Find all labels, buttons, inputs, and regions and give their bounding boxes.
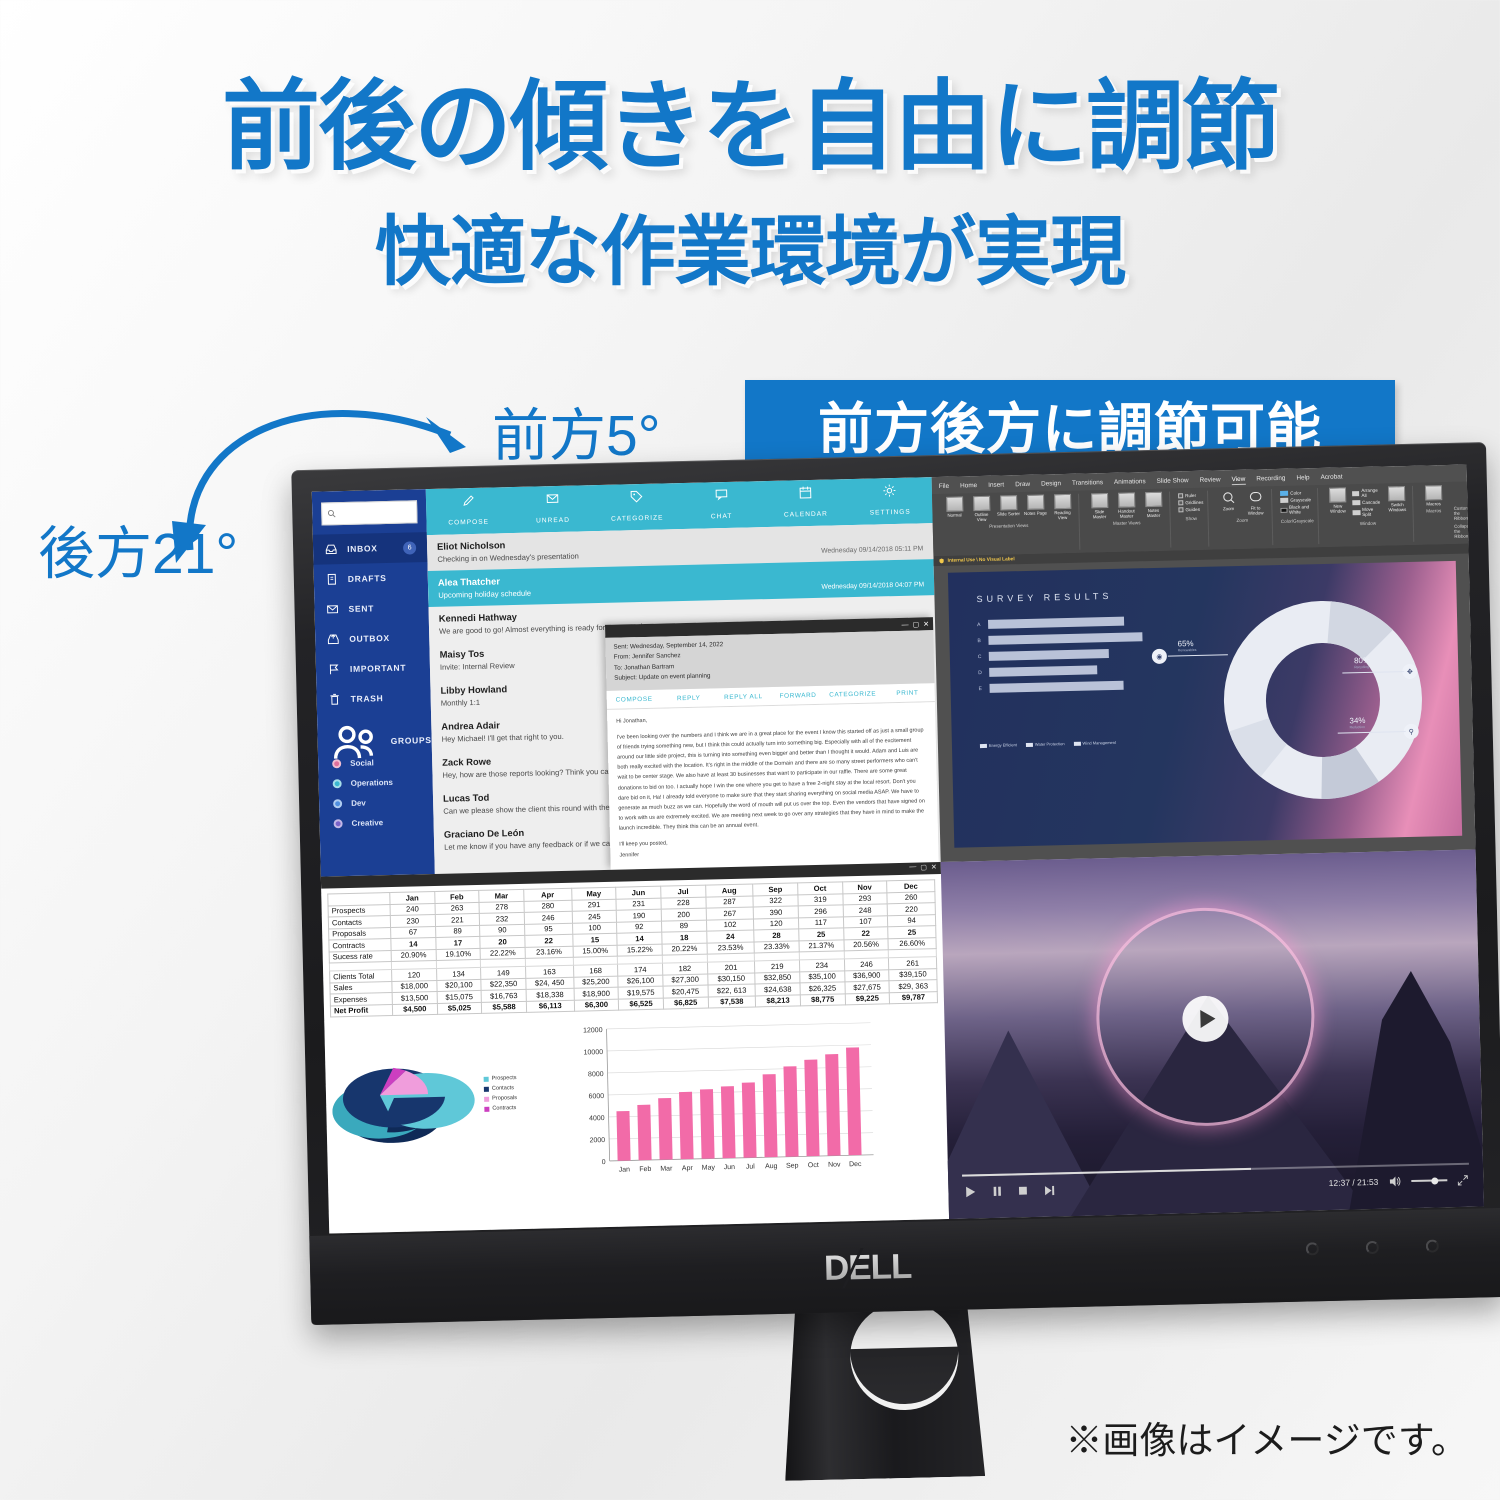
close-icon[interactable]: ✕ (931, 863, 937, 871)
toolbar-calendar[interactable]: CALENDAR (763, 484, 848, 527)
group-dot (333, 819, 342, 828)
btn-move-split[interactable]: Move Split (1352, 507, 1383, 518)
svg-text:Jan: Jan (619, 1166, 631, 1173)
sidebar-label: INBOX (347, 543, 378, 554)
bar-track (988, 617, 1124, 629)
email-sidebar: INBOX 6 DRAFTS SENT O (312, 489, 435, 877)
page-subtitle: 快適な作業環境が実現 (0, 190, 1500, 300)
bar-track (989, 665, 1097, 677)
link-collapse-ribbon[interactable]: Collapse the Ribbon (1454, 523, 1475, 538)
btn-label: Handout Master (1114, 508, 1138, 519)
window-controls[interactable]: — ▢ ✕ (909, 863, 937, 872)
gear-icon (882, 483, 897, 498)
color-swatch-icon (1280, 491, 1288, 496)
callout-value: 80%Recycling (1354, 656, 1370, 669)
group-dot (333, 799, 342, 808)
cascade-icon (1352, 500, 1360, 505)
sensitivity-label: Internal Use \ No Visual Label (948, 557, 1015, 564)
svg-text:12000: 12000 (583, 1027, 603, 1034)
inbox-icon (324, 542, 338, 556)
btn-label: Notes Page (1024, 510, 1047, 516)
legend-swatch (1073, 741, 1080, 745)
tag-icon (629, 489, 644, 504)
legend-item: Proposals (484, 1095, 517, 1102)
legend-swatch (484, 1096, 489, 1101)
maximize-icon[interactable]: ▢ (912, 619, 919, 631)
notes-page-icon (1027, 495, 1044, 510)
email-reading-window: — ▢ ✕ Sent: Wednesday, September 14, 202… (605, 617, 939, 870)
move-split-icon (1352, 510, 1360, 515)
ribbon-group-presentation-views: Normal Outline View Slide Sorter Notes P… (938, 494, 1080, 553)
sidebar-item-sent[interactable]: SENT (314, 592, 429, 625)
cell[interactable]: $4,500 (392, 1003, 437, 1016)
toolbar-label: CALENDAR (784, 511, 828, 519)
tab-review[interactable]: Review (1200, 476, 1221, 485)
cell[interactable]: $5,025 (437, 1002, 482, 1015)
legend-item: Contracts (484, 1105, 517, 1112)
callout-caption: Reduction (1350, 725, 1366, 729)
svg-text:Dec: Dec (849, 1161, 862, 1168)
toolbar-categorize[interactable]: CATEGORIZE (594, 488, 679, 531)
ribbon: Normal Outline View Slide Sorter Notes P… (932, 482, 1468, 557)
sidebar-label: DRAFTS (348, 573, 387, 584)
fit-window-icon (1247, 489, 1264, 504)
btn-label: Cascade (1362, 500, 1380, 505)
search-icon (327, 509, 336, 518)
slide-bar-row: A (977, 616, 1157, 629)
bar-label: B (977, 637, 984, 643)
group-label: Operations (351, 777, 393, 787)
osd-button-2[interactable] (1366, 1241, 1379, 1254)
checkbox-label: Guides (1185, 507, 1200, 512)
tab-compose[interactable]: COMPOSE (607, 689, 662, 708)
tab-transitions[interactable]: Transitions (1072, 479, 1103, 489)
bar-label: D (978, 669, 985, 675)
checkbox-icon (1178, 500, 1183, 505)
ribbon-group-show: Ruler Gridlines Guides Show (1174, 491, 1209, 548)
callout-value: 65%Renewables (1177, 639, 1196, 652)
legend-swatch (484, 1076, 489, 1081)
legend-item: Water Protection (1026, 741, 1065, 747)
dell-logo: DELL (824, 1246, 912, 1288)
pencil-icon (461, 493, 476, 508)
tab-reply-all[interactable]: REPLY ALL (716, 687, 771, 706)
checkbox-icon (1178, 507, 1183, 512)
btn-grayscale[interactable]: Grayscale (1280, 497, 1313, 503)
link-customize-ribbon[interactable]: Customize the Ribbon... (1454, 505, 1475, 520)
svg-text:Jun: Jun (724, 1164, 736, 1171)
arrange-all-icon (1352, 491, 1360, 496)
btn-new-window[interactable]: New Window (1326, 487, 1349, 514)
tab-home[interactable]: Home (960, 482, 977, 491)
pause-icon[interactable] (990, 1184, 1003, 1199)
bar-track (989, 649, 1109, 661)
btn-fit-to-window[interactable]: Fit to Window (1243, 489, 1268, 516)
svg-text:May: May (702, 1164, 716, 1171)
grayscale-swatch-icon (1280, 498, 1288, 503)
svg-text:6000: 6000 (588, 1093, 604, 1100)
data-table-top[interactable]: Jan Feb Mar Apr May Jun Jul Aug Sep Oct … (327, 879, 938, 1017)
legend-label: Prospects (492, 1075, 517, 1082)
minimize-icon[interactable]: — (901, 620, 908, 632)
outbox-icon (326, 632, 340, 646)
toolbar-label: UNREAD (536, 517, 570, 525)
bar-label: A (977, 621, 984, 627)
tab-animations[interactable]: Animations (1114, 478, 1146, 488)
callout-caption: Recycling (1354, 665, 1370, 669)
minimize-icon[interactable]: — (909, 864, 916, 872)
ribbon-group-master-views: Slide Master Handout Master Notes Master… (1083, 492, 1171, 550)
bar-chart[interactable]: 12000100008000 6000400020000 (566, 1009, 942, 1184)
tab-categorize[interactable]: CATEGORIZE (825, 684, 880, 703)
promo-headline-block: 前後の傾きを自由に調節 快適な作業環境が実現 (0, 72, 1500, 300)
email-greeting: Hi Jonathan, (616, 709, 926, 726)
next-icon[interactable] (1042, 1183, 1055, 1197)
monitor-screen: INBOX 6 DRAFTS SENT O (312, 465, 1484, 1234)
new-window-icon (1329, 487, 1346, 502)
play-icon[interactable] (962, 1184, 977, 1199)
btn-label: Switch Windows (1386, 502, 1409, 513)
svg-text:8000: 8000 (588, 1071, 604, 1078)
window-controls[interactable]: — ▢ ✕ (901, 619, 929, 631)
cell[interactable]: $9,787 (889, 991, 937, 1004)
group-dot (333, 779, 342, 788)
btn-handout-master[interactable]: Handout Master (1114, 492, 1139, 519)
bar-track (989, 681, 1123, 693)
slide-bar-row: C (978, 648, 1158, 661)
email-body-text: I've been looking over the numbers and I… (617, 725, 929, 834)
callout-number: 65% (1177, 639, 1193, 648)
image-disclaimer: ※画像はイメージです。 (1065, 1410, 1468, 1464)
tab-help[interactable]: Help (1296, 474, 1309, 483)
donut-chart (1221, 598, 1426, 803)
btn-cascade[interactable]: Cascade (1352, 500, 1383, 506)
cell[interactable]: $8,775 (800, 993, 845, 1006)
macros-icon (1425, 485, 1442, 500)
ribbon-group-window: New Window Arrange All Cascade Move Spli… (1322, 486, 1414, 544)
reading-view-icon (1054, 494, 1071, 509)
group-label: Macros (1426, 508, 1441, 513)
btn-reading-view[interactable]: Reading View (1050, 494, 1075, 521)
svg-text:Oct: Oct (808, 1162, 819, 1169)
group-label: Window (1360, 521, 1376, 526)
btn-label: New Window (1326, 503, 1349, 514)
normal-view-icon (946, 496, 963, 511)
btn-label: Notes Master (1141, 508, 1165, 519)
osd-button-3[interactable] (1426, 1239, 1439, 1252)
callout-line (1168, 654, 1228, 656)
slide-sorter-icon (1000, 495, 1017, 510)
bar-label: C (978, 653, 985, 659)
tab-recording[interactable]: Recording (1256, 475, 1285, 485)
sidebar-item-outbox[interactable]: OUTBOX (315, 622, 430, 655)
legend-label: Energy Efficient (989, 742, 1017, 748)
svg-text:Nov: Nov (828, 1161, 841, 1168)
group-label: Creative (351, 818, 383, 828)
handout-master-icon (1118, 492, 1135, 507)
btn-macros[interactable]: Macros (1421, 485, 1445, 507)
sidebar-item-inbox[interactable]: INBOX 6 (313, 532, 428, 565)
svg-text:10000: 10000 (584, 1049, 604, 1056)
sidebar-label: IMPORTANT (350, 663, 406, 674)
toolbar-settings[interactable]: SETTINGS (847, 482, 932, 525)
outline-view-icon (973, 496, 990, 511)
group-item-operations[interactable]: Operations (318, 771, 432, 794)
legend-swatch (484, 1086, 489, 1091)
legend-item: Prospects (484, 1075, 517, 1082)
tab-draw[interactable]: Draw (1015, 481, 1030, 490)
btn-label: Slide Sorter (997, 511, 1020, 517)
btn-arrange-all[interactable]: Arrange All (1352, 488, 1383, 499)
group-dot (332, 759, 341, 768)
btn-zoom[interactable]: Zoom (1216, 490, 1240, 512)
checkbox-label: Ruler (1185, 493, 1196, 498)
tab-print[interactable]: PRINT (880, 683, 935, 702)
btn-label: Color (1290, 490, 1301, 495)
sidebar-label: OUTBOX (349, 633, 390, 644)
slide-bar-row: B (977, 632, 1157, 645)
tab-insert[interactable]: Insert (988, 481, 1004, 490)
toolbar-label: CHAT (711, 513, 733, 521)
osd-button-1[interactable] (1306, 1242, 1319, 1255)
svg-text:2000: 2000 (589, 1137, 605, 1144)
svg-text:Aug: Aug (765, 1163, 778, 1170)
group-label: Color/Grayscale (1281, 518, 1314, 524)
btn-label: Normal (947, 512, 961, 517)
btn-slide-master[interactable]: Slide Master (1087, 493, 1112, 520)
ribbon-group-zoom: Zoom Fit to Window Zoom (1212, 489, 1273, 546)
toolbar-label: SETTINGS (870, 509, 911, 517)
monitor-bezel: INBOX 6 DRAFTS SENT O (291, 442, 1500, 1325)
close-icon[interactable]: ✕ (923, 619, 929, 631)
group-label: Show (1185, 516, 1197, 521)
cell[interactable]: $6,300 (574, 999, 619, 1012)
legend-label: Contacts (492, 1085, 514, 1092)
btn-label: Outline View (969, 512, 993, 523)
shield-icon (939, 558, 945, 564)
volume-knob[interactable] (1431, 1177, 1438, 1184)
btn-switch-windows[interactable]: Switch Windows (1385, 486, 1408, 513)
btn-label: Grayscale (1290, 497, 1311, 502)
pie-chart[interactable]: Prospects Contacts Proposals Contracts (330, 1018, 570, 1190)
group-item-dev[interactable]: Dev (319, 791, 433, 814)
ribbon-group-macros: Macros Macros (1417, 485, 1450, 542)
video-timestamp: 12:37 / 21:53 (1329, 1177, 1379, 1188)
switch-windows-icon (1388, 486, 1405, 501)
envelope-icon (545, 491, 560, 506)
email-app-window: INBOX 6 DRAFTS SENT O (312, 477, 941, 877)
timestamp: Wednesday 09/14/2018 05:11 PM (821, 545, 923, 554)
group-label: Zoom (1236, 518, 1248, 523)
btn-black-and-white[interactable]: Black and White (1281, 504, 1314, 515)
tab-slide-show[interactable]: Slide Show (1157, 477, 1189, 487)
sidebar-label: TRASH (351, 693, 384, 704)
legend-label: Proposals (492, 1095, 517, 1102)
slide-bar-row: E (978, 680, 1158, 693)
calendar-icon (798, 485, 813, 500)
page-title: 前後の傾きを自由に調節 (0, 72, 1500, 182)
bar-track (988, 632, 1142, 645)
toolbar-label: COMPOSE (448, 519, 489, 527)
label-backward-tilt: 後方21° (38, 508, 238, 590)
sidebar-label: SENT (348, 603, 374, 614)
callout-number: 34% (1349, 716, 1365, 725)
drop-icon: ◉ (1152, 649, 1167, 664)
sidebar-item-drafts[interactable]: DRAFTS (314, 562, 429, 595)
toolbar-unread[interactable]: UNREAD (510, 490, 595, 533)
group-item-creative[interactable]: Creative (319, 811, 433, 834)
btn-label: Slide Master (1087, 509, 1111, 520)
group-label: Presentation Views (989, 523, 1028, 529)
btn-normal[interactable]: Normal (942, 496, 966, 518)
monitor: INBOX 6 DRAFTS SENT O (291, 441, 1500, 1350)
cell[interactable]: $9,225 (845, 992, 890, 1005)
btn-label: Move Split (1362, 507, 1383, 517)
group-label: Dev (351, 798, 366, 807)
charts-area: Prospects Contacts Proposals Contracts 1… (330, 1009, 942, 1189)
legend-label: Wind Management (1082, 740, 1116, 746)
toolbar-compose[interactable]: COMPOSE (426, 492, 511, 535)
groups-header: GROUPS (317, 729, 431, 754)
checkbox-ruler[interactable]: Ruler (1178, 493, 1203, 499)
svg-text:Sep: Sep (786, 1162, 799, 1169)
slide-bar-row: D (978, 664, 1158, 677)
slide-legend: Energy Efficient Water Protection Wind M… (980, 740, 1116, 748)
checkbox-icon (1178, 493, 1183, 498)
legend-label: Contracts (492, 1105, 516, 1112)
sidebar-item-important[interactable]: IMPORTANT (316, 652, 431, 685)
checkbox-guides[interactable]: Guides (1178, 507, 1203, 513)
btn-notes-page[interactable]: Notes Page (1023, 494, 1047, 516)
legend-swatch (1026, 742, 1033, 746)
checkbox-label: Gridlines (1185, 500, 1203, 505)
svg-text:Feb: Feb (639, 1166, 651, 1173)
cell[interactable]: $5,588 (482, 1001, 527, 1014)
tab-forward[interactable]: FORWARD (771, 685, 826, 704)
btn-slide-sorter[interactable]: Slide Sorter (996, 495, 1020, 517)
cell[interactable]: $6,113 (526, 1000, 574, 1013)
tab-design[interactable]: Design (1041, 480, 1061, 489)
legend-swatch (484, 1106, 489, 1111)
video-player-window: 12:37 / 21:53 (941, 849, 1484, 1219)
btn-notes-master[interactable]: Notes Master (1141, 492, 1166, 519)
cell[interactable]: $8,213 (756, 994, 801, 1007)
tab-reply[interactable]: REPLY (661, 688, 716, 707)
legend-item: Contacts (484, 1085, 517, 1092)
volume-icon[interactable] (1387, 1174, 1402, 1188)
inbox-badge: 6 (403, 541, 416, 554)
row-label: Net Profit (330, 1004, 392, 1017)
cell[interactable]: $7,538 (708, 995, 756, 1008)
tab-view[interactable]: View (1231, 476, 1245, 485)
ribbon-group-color-grayscale: Color Grayscale Black and White Color/Gr… (1276, 488, 1319, 545)
tab-file[interactable]: File (939, 483, 950, 492)
slide-master-icon (1091, 493, 1108, 508)
btn-label: Arrange All (1361, 488, 1382, 498)
btn-outline-view[interactable]: Outline View (969, 496, 994, 523)
sidebar-item-trash[interactable]: TRASH (316, 682, 431, 715)
btn-label: Black and White (1289, 504, 1314, 515)
groups-label: GROUPS (391, 735, 432, 746)
tab-acrobat[interactable]: Acrobat (1320, 473, 1342, 483)
callout-value: 34%Reduction (1349, 716, 1365, 729)
drafts-icon (325, 572, 339, 586)
callout-caption: Renewables (1178, 648, 1197, 652)
cell[interactable]: $6,825 (663, 997, 708, 1010)
powerpoint-window: File Home Insert Draw Design Transitions… (932, 465, 1476, 862)
svg-text:0: 0 (602, 1159, 606, 1166)
svg-text:Jul: Jul (746, 1164, 756, 1171)
svg-text:Apr: Apr (682, 1165, 694, 1172)
maximize-icon[interactable]: ▢ (920, 863, 927, 871)
stop-icon[interactable] (1016, 1184, 1029, 1197)
btn-label: Reading View (1050, 510, 1074, 521)
bar-label: E (979, 685, 986, 691)
slide-canvas[interactable]: SURVEY RESULTS A B C D E Energy Efficien… (948, 561, 1462, 848)
btn-label: Fit to Window (1244, 505, 1268, 516)
toolbar-chat[interactable]: CHAT (679, 486, 764, 529)
btn-color[interactable]: Color (1280, 490, 1313, 496)
legend-item: Energy Efficient (980, 742, 1017, 748)
cell[interactable]: $6,525 (619, 998, 664, 1011)
legend-swatch (980, 743, 987, 747)
trash-icon (328, 692, 342, 706)
toolbar-label: CATEGORIZE (611, 514, 664, 522)
btn-label: Zoom (1223, 506, 1234, 511)
group-label: Social (350, 758, 374, 768)
group-label: Master Views (1113, 520, 1141, 526)
chat-icon (713, 487, 728, 502)
notes-master-icon (1145, 492, 1162, 507)
search-input[interactable] (321, 500, 418, 525)
callout-number: 80% (1354, 656, 1370, 665)
email-body: Hi Jonathan, I've been looking over the … (607, 702, 939, 882)
spreadsheet-window: — ▢ ✕ Jan Feb Mar Apr May (321, 862, 949, 1234)
fullscreen-icon[interactable] (1456, 1173, 1469, 1186)
sent-icon (325, 602, 339, 616)
timestamp: Wednesday 09/14/2018 04:07 PM (821, 581, 924, 590)
flag-icon (327, 662, 341, 676)
legend-label: Water Protection (1035, 741, 1065, 747)
label-forward-tilt: 前方5° (492, 390, 661, 472)
bw-swatch-icon (1281, 507, 1288, 512)
slide-title: SURVEY RESULTS (976, 591, 1112, 604)
btn-label: Macros (1426, 501, 1441, 506)
checkbox-gridlines[interactable]: Gridlines (1178, 500, 1203, 506)
svg-text:Mar: Mar (660, 1165, 673, 1172)
volume-slider[interactable] (1411, 1179, 1447, 1182)
email-headers: — ▢ ✕ Sent: Wednesday, September 14, 202… (605, 630, 934, 690)
svg-text:4000: 4000 (589, 1115, 605, 1122)
zoom-icon (1220, 490, 1237, 505)
legend-item: Wind Management (1073, 740, 1116, 746)
